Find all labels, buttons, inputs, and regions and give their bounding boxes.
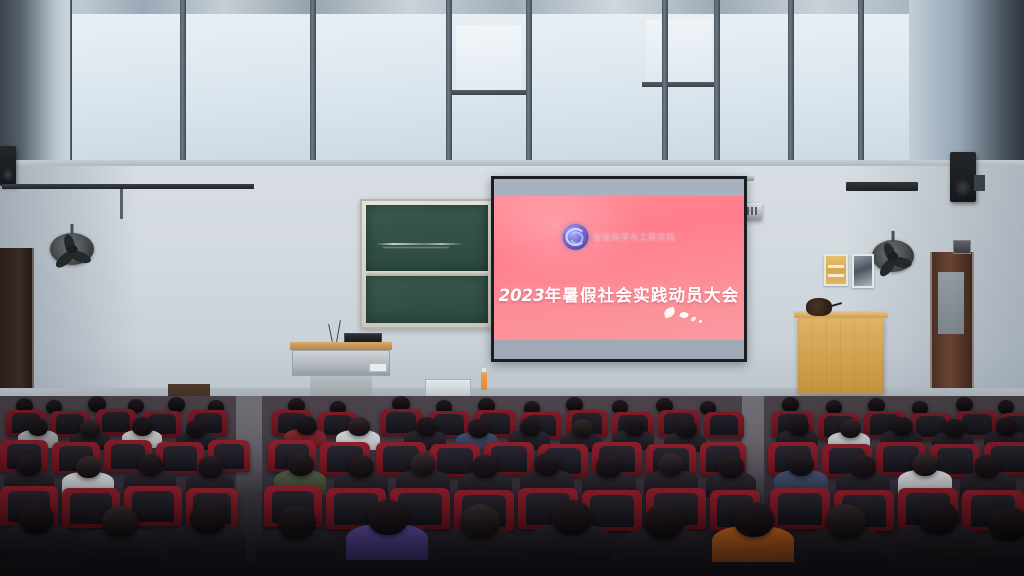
audience-head [624,417,645,436]
audience-head [826,400,842,414]
audience-head [534,453,560,476]
slide-organization-name: 智能科学与工程学院 [594,232,676,243]
slide-title: 2023年暑假社会实践动员大会 [499,282,740,306]
window-vent-sash[interactable] [646,20,712,82]
window-mullion [714,0,720,166]
wood-grain-texture [798,316,884,394]
dove-decoration-icon [664,304,710,326]
window-vent-sash[interactable] [456,26,522,90]
wall-notice-amber [824,254,848,286]
window-mullion [788,0,794,166]
front-small-table [425,379,471,397]
fan-mount [70,224,73,235]
audience-head [296,416,317,435]
water-bottle [481,372,487,390]
audience-head [734,502,774,537]
audience-head [348,455,374,478]
wall-speaker-left [0,146,16,186]
window-vent-rail [452,90,526,95]
window-mullion [180,0,186,166]
audience-head [988,506,1024,541]
audience-head [80,420,100,438]
side-door-left[interactable] [0,248,34,400]
window-pane [794,14,858,162]
audience-head [998,400,1014,414]
audience-head [416,417,437,436]
audience-head [996,417,1017,436]
audience-head [788,453,814,476]
audience-head [782,397,799,412]
wall-sign-rail [846,182,918,191]
audience-head [190,502,226,534]
audience-head [288,453,314,476]
audience-head [918,500,958,535]
console-worktop [290,342,392,350]
window-mullion [858,0,864,166]
audience-head [198,456,223,478]
audience-head [572,419,593,438]
auditorium-scene: 智能科学与工程学院 2023年暑假社会实践动员大会 [0,0,1024,576]
window-mullion [310,0,316,166]
screen-surface: 智能科学与工程学院 2023年暑假社会实践动员大会 [494,179,744,359]
window-mullion [526,0,532,166]
audience-head [520,417,541,436]
audience-head [348,417,370,436]
audience-head [472,455,498,478]
seat [704,412,744,438]
presentation-slide: 智能科学与工程学院 2023年暑假社会实践动员大会 [494,196,744,340]
sky-view-strip [0,0,1024,14]
fan-hub [67,245,78,253]
speaker-bracket [974,175,985,191]
audience-head [912,453,938,476]
audience-head [676,419,697,438]
window-band-left-pillar [0,0,70,166]
school-emblem-icon [563,224,589,250]
audience-head [410,453,436,476]
wall-fan-left[interactable] [50,233,94,265]
audience-head [468,419,489,438]
audience-head [826,504,866,539]
speaker-cone [3,168,13,182]
audience-head [718,455,744,478]
audience-head [956,397,973,412]
window-mullion [446,0,452,166]
chalkboard-lower-panel [366,276,488,323]
screen-bottom-bar [2,184,254,189]
audience-head [16,454,41,476]
green-chalkboard [360,199,494,329]
door-window-pane [938,272,964,334]
seat [156,442,204,474]
console-panel-label [369,363,387,372]
audience-area [0,396,1024,576]
audience-head [788,417,809,436]
audience-head [368,500,408,535]
wall-fan-right[interactable] [872,240,914,272]
audience-head [850,455,876,478]
chalk-mark [383,247,449,248]
audience-head [658,453,684,476]
audience-head [596,455,622,478]
wooden-lectern [798,316,884,394]
wall-vent-box [953,240,971,254]
audience-head [278,506,316,539]
window-pane [316,14,446,162]
chalkboard-upper-panel [366,205,488,271]
audience-head [76,456,101,478]
audience-head [460,504,500,539]
audience-head [186,420,206,438]
audience-head [644,504,684,539]
dove-icon [691,317,697,322]
console-body [292,350,390,376]
audience-head [892,417,913,436]
seat [770,488,830,529]
audience-head [840,419,861,438]
chalk-mark [376,243,464,245]
dove-icon [663,307,676,319]
clerestory-window-band [0,0,1024,166]
window-pane [720,14,788,162]
screen-support-pole [120,189,123,219]
audience-head [974,455,1000,478]
slide-title-text: 年暑假社会实践动员大会 [545,286,740,305]
window-vent-rail [642,82,714,87]
slide-title-year: 2023 [499,286,545,305]
fan-hub [888,252,898,260]
fan-mount [892,231,895,242]
window-mullion [662,0,668,166]
audience-head [102,506,138,538]
projection-screen: 智能科学与工程学院 2023年暑假社会实践动员大会 [491,176,747,362]
audience-head [132,417,153,436]
teacher-control-console[interactable] [290,342,392,390]
window-pane [186,14,310,162]
speaker-cone [955,179,971,196]
audience-head [28,418,48,436]
dove-icon [699,320,702,323]
window-pane [532,14,662,162]
window-pane [72,14,180,162]
slide-branding: 智能科学与工程学院 [563,224,676,250]
audience-head [168,397,185,412]
window-band-right-pillar [909,0,1024,176]
audience-head [552,500,592,535]
wall-speaker-right [950,152,976,202]
dove-icon [679,311,689,320]
wall-notice-photo [852,254,874,288]
audience-head [138,454,163,476]
audience-head [944,419,965,438]
audience-head [18,502,54,534]
